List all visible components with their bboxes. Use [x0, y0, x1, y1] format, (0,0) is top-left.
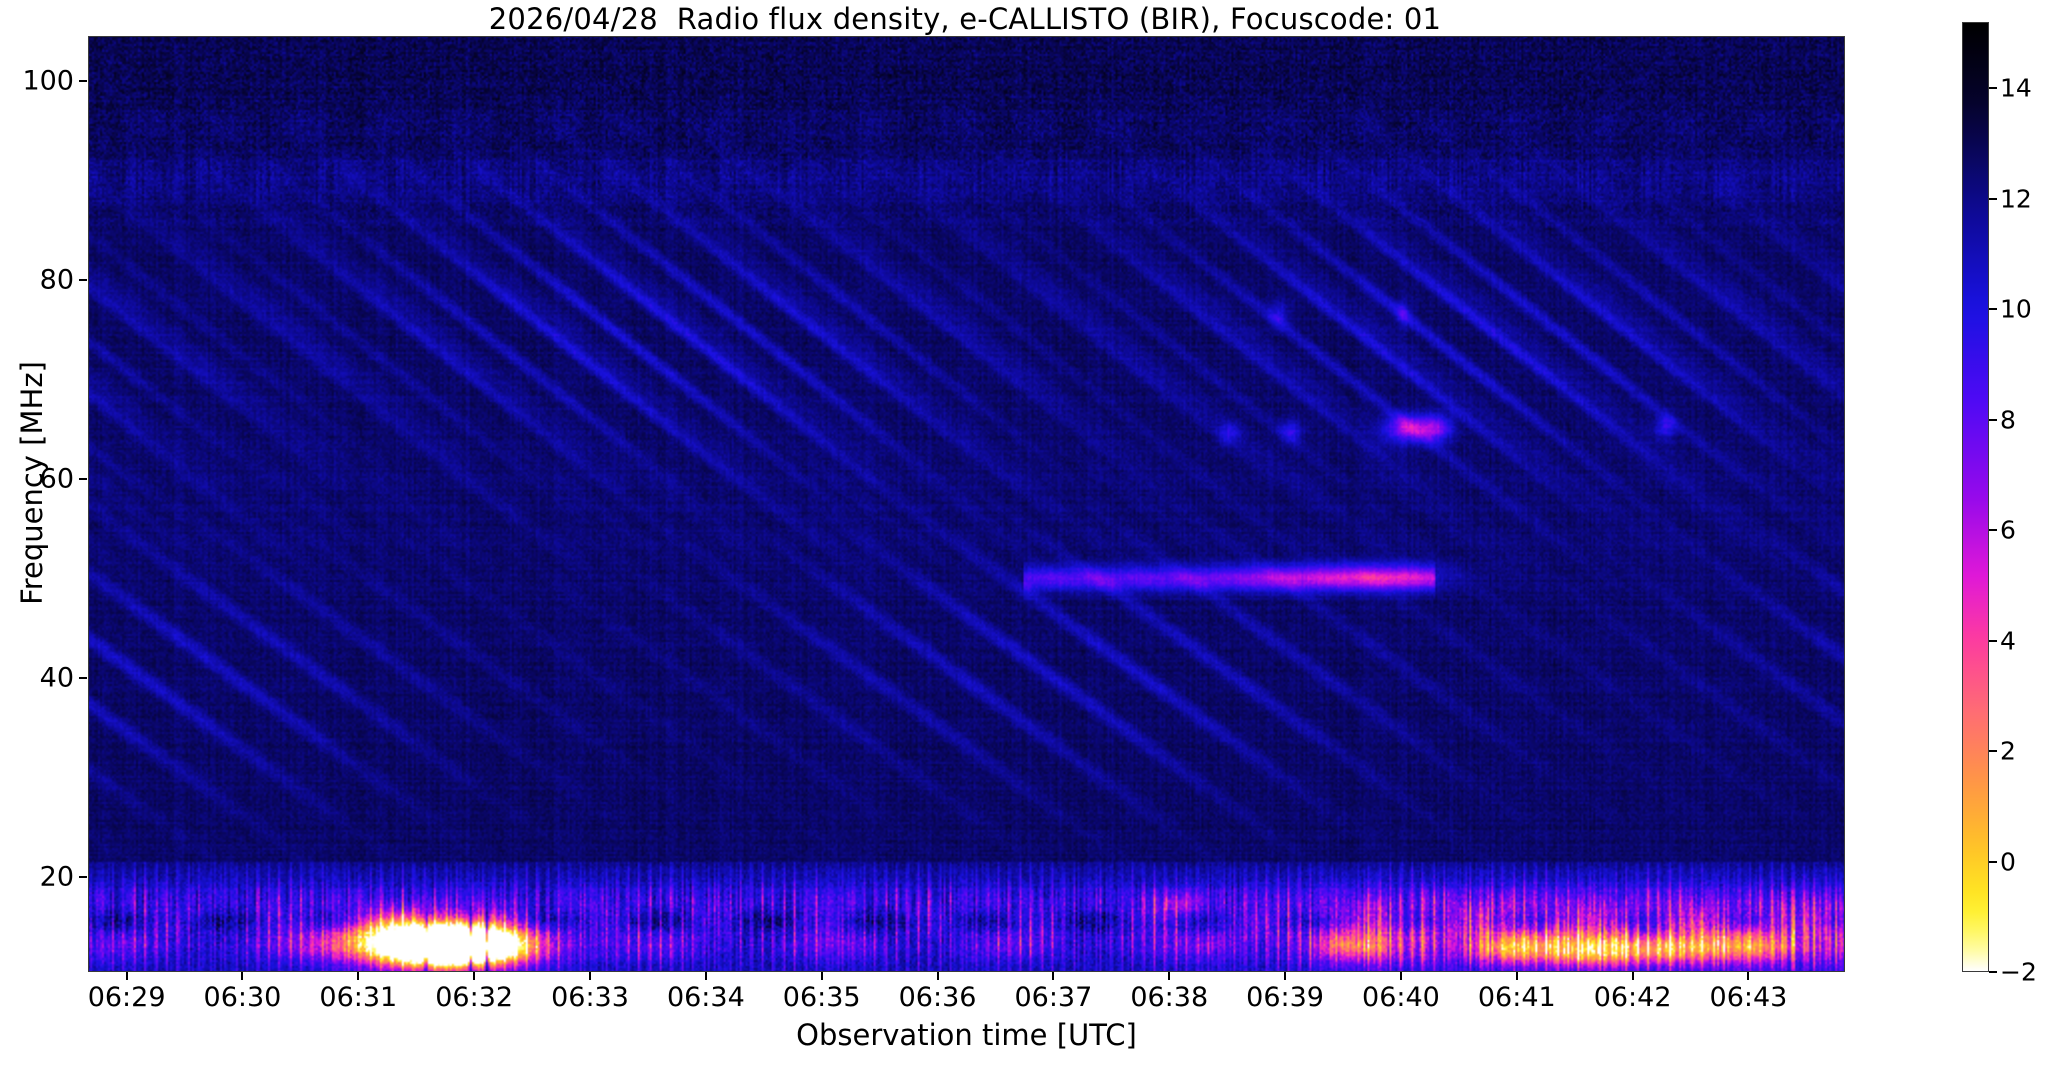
x-tick-mark	[937, 972, 939, 980]
x-tick-label: 06:42	[1594, 982, 1672, 1013]
x-tick-mark	[1168, 972, 1170, 980]
x-tick-mark	[1400, 972, 1402, 980]
y-tick-label: 100	[0, 65, 74, 96]
x-tick-mark	[473, 972, 475, 980]
x-tick-label: 06:38	[1130, 982, 1208, 1013]
colorbar-tick-label: 2	[2000, 737, 2016, 766]
y-axis-label: Frequency [MHz]	[15, 223, 49, 743]
colorbar-tick-mark	[1989, 640, 1997, 642]
colorbar	[1962, 22, 1989, 972]
colorbar-tick-label: 4	[2000, 626, 2016, 655]
colorbar-tick-mark	[1989, 529, 1997, 531]
colorbar-tick-mark	[1989, 198, 1997, 200]
x-tick-mark	[1747, 972, 1749, 980]
colorbar-tick-label: 6	[2000, 516, 2016, 545]
x-tick-mark	[1052, 972, 1054, 980]
x-tick-label: 06:39	[1246, 982, 1324, 1013]
x-tick-label: 06:31	[319, 982, 397, 1013]
x-tick-mark	[126, 972, 128, 980]
colorbar-tick-label: −2	[2000, 958, 2037, 987]
x-tick-mark	[705, 972, 707, 980]
x-tick-label: 06:35	[783, 982, 861, 1013]
colorbar-gradient	[1963, 23, 1988, 971]
x-tick-label: 06:32	[435, 982, 513, 1013]
x-tick-label: 06:40	[1362, 982, 1440, 1013]
x-tick-label: 06:34	[667, 982, 745, 1013]
x-tick-label: 06:37	[1014, 982, 1092, 1013]
colorbar-tick-mark	[1989, 419, 1997, 421]
y-tick-mark	[79, 478, 87, 480]
x-tick-mark	[1632, 972, 1634, 980]
colorbar-tick-mark	[1989, 87, 1997, 89]
x-tick-label: 06:36	[899, 982, 977, 1013]
colorbar-tick-mark	[1989, 861, 1997, 863]
spectrogram-plot	[88, 36, 1845, 972]
y-tick-mark	[79, 677, 87, 679]
y-tick-label: 20	[0, 862, 74, 893]
colorbar-tick-mark	[1989, 308, 1997, 310]
colorbar-tick-label: 12	[2000, 184, 2032, 213]
x-tick-label: 06:41	[1478, 982, 1556, 1013]
spectrogram-canvas	[88, 36, 1845, 972]
x-tick-label: 06:29	[88, 982, 166, 1013]
x-axis-label: Observation time [UTC]	[88, 1018, 1845, 1052]
x-tick-label: 06:33	[551, 982, 629, 1013]
x-tick-mark	[241, 972, 243, 980]
colorbar-tick-label: 8	[2000, 405, 2016, 434]
colorbar-tick-label: 10	[2000, 295, 2032, 324]
colorbar-tick-label: 0	[2000, 847, 2016, 876]
page-title: 2026/04/28 Radio flux density, e-CALLIST…	[0, 2, 1930, 36]
y-tick-mark	[79, 80, 87, 82]
y-tick-mark	[79, 279, 87, 281]
x-tick-label: 06:43	[1710, 982, 1788, 1013]
x-tick-mark	[1516, 972, 1518, 980]
x-tick-mark	[1284, 972, 1286, 980]
y-tick-mark	[79, 876, 87, 878]
x-tick-mark	[821, 972, 823, 980]
x-tick-mark	[589, 972, 591, 980]
colorbar-tick-label: 14	[2000, 74, 2032, 103]
x-tick-mark	[357, 972, 359, 980]
colorbar-tick-mark	[1989, 750, 1997, 752]
x-tick-label: 06:30	[204, 982, 282, 1013]
colorbar-tick-mark	[1989, 971, 1997, 973]
